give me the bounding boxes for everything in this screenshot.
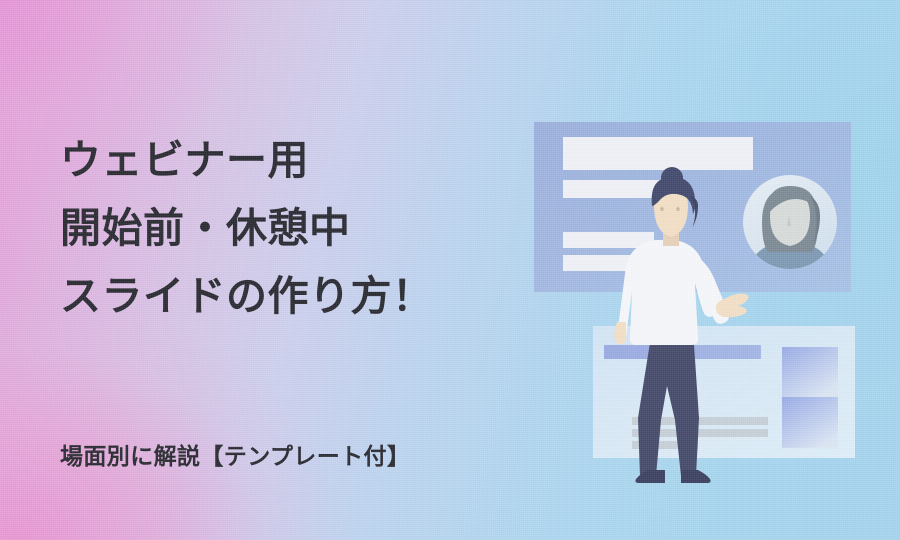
title-line-3: スライドの作り方！: [60, 262, 490, 330]
board-text-bar-large: [563, 137, 753, 170]
webinar-title-banner: ウェビナー用 開始前・休憩中 スライドの作り方！ 場面別に解説【テンプレート付】: [0, 0, 900, 540]
card-thumbnail-1: [782, 347, 838, 397]
page-title: ウェビナー用 開始前・休憩中 スライドの作り方！: [60, 126, 490, 330]
card-thumbnail-2: [782, 397, 838, 448]
title-line-2: 開始前・休憩中: [60, 194, 490, 262]
subtitle: 場面別に解説【テンプレート付】: [60, 437, 410, 471]
title-line-1: ウェビナー用: [60, 126, 490, 194]
